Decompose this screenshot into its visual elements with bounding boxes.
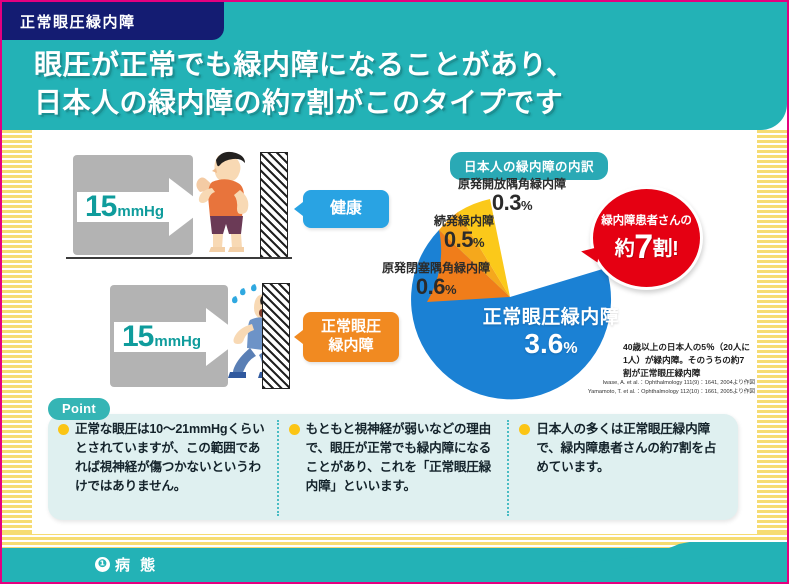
point-item-2-text: もともと視神経が弱いなどの理由で、眼圧が正常でも緑内障になることがあり、これを「… bbox=[306, 420, 496, 516]
chart-title: 日本人の緑内障の内訳 bbox=[450, 152, 608, 180]
ntg-tag-tail bbox=[294, 330, 303, 344]
footer-number: ❶ bbox=[95, 557, 110, 572]
point-badge: Point bbox=[48, 398, 110, 420]
bullet-icon bbox=[58, 424, 69, 435]
callout-main-text: 約7割! bbox=[590, 228, 703, 267]
bullet-icon bbox=[289, 424, 300, 435]
callout-top-text: 緑内障患者さんの bbox=[590, 212, 703, 228]
pie-label-poag-name: 原発開放隅角緑内障 bbox=[428, 178, 596, 191]
pie-label-poag-value: 0.3% bbox=[428, 191, 596, 216]
ntg-wall bbox=[262, 283, 290, 389]
ntg-tag-label: 正常眼圧 緑内障 bbox=[321, 318, 381, 356]
chart-citation-1: Iwase, A. et al.：Ophthalmology 111(9)：16… bbox=[570, 379, 755, 388]
pie-label-ntg: 正常眼圧緑内障 3.6% bbox=[466, 308, 636, 360]
point-item-1-text: 正常な眼圧は10〜21mmHgくらいとされていますが、この範囲であれば視神経が傷… bbox=[75, 420, 265, 516]
footer-curve-shape bbox=[569, 542, 789, 582]
point-item-1: 正常な眼圧は10〜21mmHgくらいとされていますが、この範囲であれば視神経が傷… bbox=[48, 420, 277, 516]
point-item-3-text: 日本人の多くは正常眼圧緑内障で、緑内障患者さんの約7割を占めています。 bbox=[536, 420, 726, 516]
ntg-pressure-value: 15 mmHg bbox=[122, 320, 201, 354]
pie-label-pacg-value: 0.6% bbox=[382, 275, 490, 300]
chart-citations: Iwase, A. et al.：Ophthalmology 111(9)：16… bbox=[570, 379, 755, 397]
ntg-pressure-unit: mmHg bbox=[154, 333, 201, 350]
pie-label-poag: 原発開放隅角緑内障 0.3% bbox=[428, 178, 596, 216]
infographic-page: 正常眼圧緑内障 眼圧が正常でも緑内障になることがあり、 日本人の緑内障の約7割が… bbox=[0, 0, 789, 584]
pie-label-pacg-name: 原発閉塞隅角緑内障 bbox=[382, 262, 490, 275]
pie-label-secondary-name: 続発緑内障 bbox=[408, 215, 520, 228]
footer-label: ❶ 病 態 bbox=[95, 554, 158, 575]
pie-label-secondary: 続発緑内障 0.5% bbox=[408, 215, 520, 253]
point-item-2: もともと視神経が弱いなどの理由で、眼圧が正常でも緑内障になることがあり、これを「… bbox=[277, 420, 508, 516]
footer-title: 病 態 bbox=[115, 554, 158, 575]
pie-label-pacg: 原発閉塞隅角緑内障 0.6% bbox=[382, 262, 490, 300]
chart-citation-2: Yamamoto, T. et al.：Ophthalmology 112(10… bbox=[570, 388, 755, 397]
pie-label-ntg-value: 3.6% bbox=[466, 329, 636, 360]
point-columns: 正常な眼圧は10〜21mmHgくらいとされていますが、この範囲であれば視神経が傷… bbox=[48, 420, 738, 516]
callout-balloon: 緑内障患者さんの 約7割! bbox=[590, 186, 703, 290]
ntg-pressure-number: 15 bbox=[122, 320, 153, 354]
ntg-tag: 正常眼圧 緑内障 bbox=[303, 312, 399, 362]
bullet-icon bbox=[519, 424, 530, 435]
chart-note: 40歳以上の日本人の5％（20人に1人）が緑内障。そのうちの約7割が正常眼圧緑内… bbox=[623, 341, 751, 380]
pie-label-ntg-name: 正常眼圧緑内障 bbox=[466, 308, 636, 329]
pie-label-secondary-value: 0.5% bbox=[408, 228, 520, 253]
point-item-3: 日本人の多くは正常眼圧緑内障で、緑内障患者さんの約7割を占めています。 bbox=[507, 420, 738, 516]
